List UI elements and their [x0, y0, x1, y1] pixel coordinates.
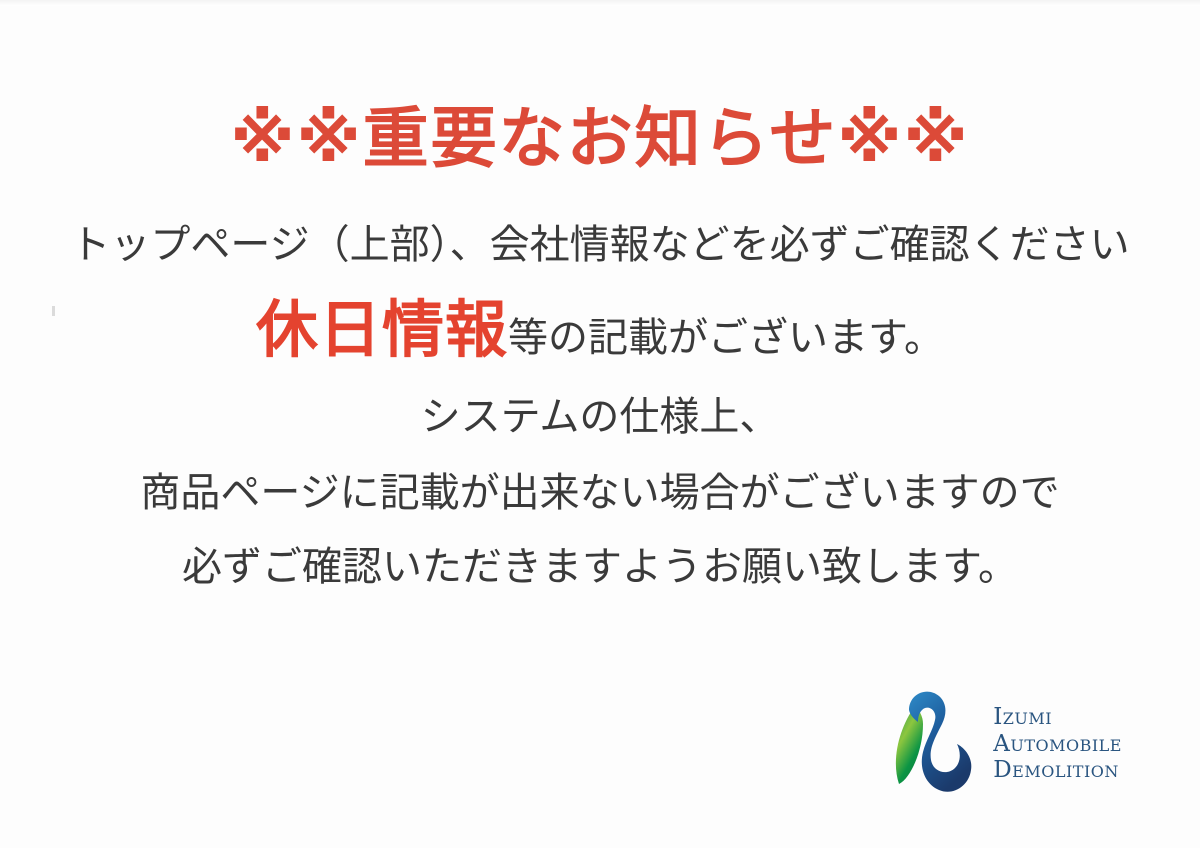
notice-line-5: 必ずご確認いただきますようお願い致します。 — [0, 547, 1200, 587]
notice-line-1: トップページ（上部）、会社情報などを必ずご確認ください — [0, 225, 1200, 265]
notice-line-2: 休日情報 等の記載がございます。 — [0, 299, 1200, 361]
izumi-wave-leaf-mark — [885, 688, 981, 800]
notice-line-4: 商品ページに記載が出来ない場合がございますので — [0, 473, 1200, 513]
scan-speck-artifact — [52, 306, 55, 316]
company-logo: Izumi Automobile Demolition — [885, 688, 1122, 800]
holiday-info-emphasis: 休日情報 — [256, 299, 508, 361]
logo-text-izumi: Izumi — [993, 704, 1122, 731]
notice-document: ※※重要なお知らせ※※ トップページ（上部）、会社情報などを必ずご確認ください … — [0, 0, 1200, 848]
notice-body: トップページ（上部）、会社情報などを必ずご確認ください 休日情報 等の記載がござ… — [0, 225, 1200, 587]
notice-line-3: システムの仕様上、 — [0, 397, 1200, 437]
page-title: ※※重要なお知らせ※※ — [0, 0, 1200, 173]
logo-text-automobile: Automobile — [993, 731, 1122, 758]
logo-wordmark: Izumi Automobile Demolition — [993, 704, 1122, 784]
notice-line-2-tail: 等の記載がございます。 — [508, 318, 944, 358]
logo-text-demolition: Demolition — [993, 757, 1122, 784]
